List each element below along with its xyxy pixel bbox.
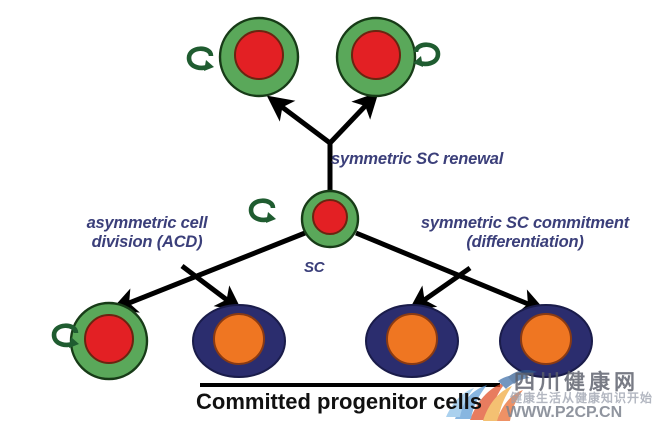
label-commitment-line-1: symmetric SC commitment	[421, 214, 629, 232]
cell-renewed-sc-left	[220, 18, 298, 96]
label-asymmetric-line-1: asymmetric cell	[87, 214, 208, 232]
cell-acd-progenitor	[193, 305, 285, 377]
renewal-arrow-top-left-icon	[189, 49, 214, 71]
caption-committed-progenitor-cells: Committed progenitor cells	[196, 389, 482, 415]
cell-parent-sc	[302, 191, 358, 247]
renewal-branch-left-arrow	[278, 104, 330, 143]
label-sc: SC	[304, 258, 324, 277]
renewal-branch-right-arrow	[330, 102, 369, 143]
label-commitment-line-2: (differentiation)	[466, 233, 583, 251]
cell-committed-left	[366, 305, 458, 377]
renewal-arrow-center-icon	[251, 201, 276, 223]
cell-acd-stem-daughter	[71, 303, 147, 379]
renewal-arrow-top-right-icon	[413, 45, 438, 67]
stem-cell-nucleus	[85, 315, 133, 363]
cell-committed-right	[500, 305, 592, 377]
cell-renewed-sc-right	[337, 18, 415, 96]
label-asymmetric-cell-division: asymmetric cell division (ACD)	[62, 214, 232, 252]
label-symmetric-sc-commitment: symmetric SC commitment (differentiation…	[415, 214, 635, 252]
stem-cell-nucleus	[352, 31, 400, 79]
label-asymmetric-line-2: division (ACD)	[92, 233, 203, 251]
diagram-canvas: symmetric SC renewal asymmetric cell div…	[0, 0, 666, 431]
label-symmetric-sc-renewal: symmetric SC renewal	[331, 150, 503, 169]
stem-cell-nucleus	[313, 200, 347, 234]
progenitor-nucleus	[521, 314, 571, 364]
progenitor-nucleus	[214, 314, 264, 364]
progenitor-nucleus	[387, 314, 437, 364]
commitment-short-arrow	[420, 268, 470, 303]
stem-cell-nucleus	[235, 31, 283, 79]
